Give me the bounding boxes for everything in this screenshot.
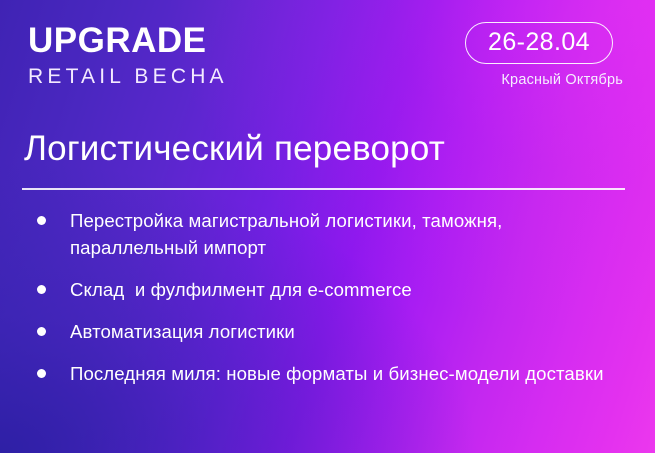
event-dates-badge: 26-28.04 bbox=[465, 22, 613, 64]
list-item-label: Перестройка магистральной логистики, там… bbox=[70, 207, 630, 261]
brand-title: UPGRADE bbox=[28, 20, 228, 62]
session-title: Логистический переворот bbox=[24, 126, 445, 172]
list-item: Автоматизация логистики bbox=[24, 318, 633, 345]
list-item-label: Автоматизация логистики bbox=[70, 318, 630, 345]
brand-lockup: UPGRADE RETAIL ВЕСНА bbox=[28, 20, 228, 91]
bullet-dot-icon bbox=[37, 216, 46, 225]
list-item: Последняя миля: новые форматы и бизнес-м… bbox=[24, 360, 633, 387]
list-item: Перестройка магистральной логистики, там… bbox=[24, 207, 633, 261]
brand-subtitle: RETAIL ВЕСНА bbox=[28, 63, 228, 91]
bullet-dot-icon bbox=[37, 369, 46, 378]
bullet-dot-icon bbox=[37, 285, 46, 294]
slide-header: UPGRADE RETAIL ВЕСНА 26-28.04 Красный Ок… bbox=[0, 0, 655, 110]
event-date-block: 26-28.04 Красный Октябрь bbox=[453, 22, 625, 88]
list-item: Склад и фулфилмент для e-commerce bbox=[24, 276, 633, 303]
list-item-label: Склад и фулфилмент для e-commerce bbox=[70, 276, 630, 303]
session-topics-list: Перестройка магистральной логистики, там… bbox=[24, 207, 633, 402]
event-venue-label: Красный Октябрь bbox=[453, 72, 625, 88]
event-slide: UPGRADE RETAIL ВЕСНА 26-28.04 Красный Ок… bbox=[0, 0, 655, 453]
title-divider bbox=[22, 188, 625, 190]
list-item-label: Последняя миля: новые форматы и бизнес-м… bbox=[70, 360, 630, 387]
bullet-dot-icon bbox=[37, 327, 46, 336]
